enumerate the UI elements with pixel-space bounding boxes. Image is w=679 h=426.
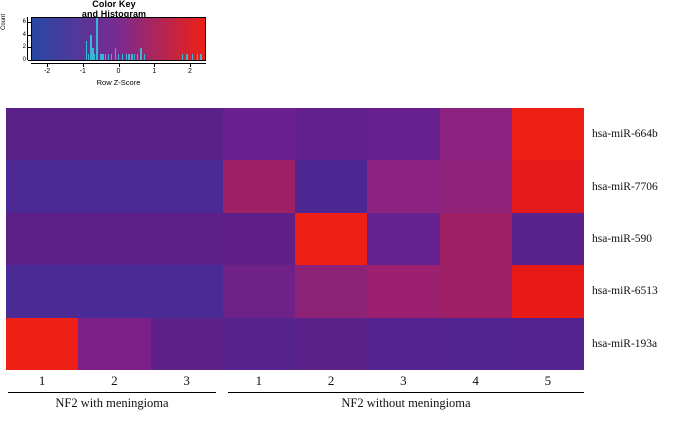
heatmap-cell xyxy=(367,265,439,317)
color-key-x-tick xyxy=(190,64,191,67)
histogram-bar xyxy=(102,54,103,60)
heatmap-cell xyxy=(512,108,584,160)
heatmap-column-label: 4 xyxy=(440,372,512,390)
heatmap-row-label: hsa-miR-193a xyxy=(592,318,679,370)
histogram-bar xyxy=(134,54,135,60)
histogram-bar xyxy=(105,54,106,60)
heatmap-cell xyxy=(6,265,78,317)
heatmap-cell xyxy=(295,265,367,317)
color-key-y-tick-label: 4 xyxy=(23,32,26,38)
histogram-bar xyxy=(108,54,109,60)
color-key-y-tick xyxy=(28,47,31,48)
color-key-plot xyxy=(31,17,206,61)
heatmap-row-label: hsa-miR-590 xyxy=(592,213,679,265)
heatmap-cell xyxy=(151,108,223,160)
heatmap-cell xyxy=(295,160,367,212)
heatmap-cell xyxy=(6,160,78,212)
histogram-bar xyxy=(197,54,198,60)
heatmap-cell xyxy=(512,160,584,212)
heatmap-cell xyxy=(367,108,439,160)
color-key-y-tick-label: 6 xyxy=(23,19,26,25)
histogram-bar xyxy=(144,54,145,60)
heatmap-cell xyxy=(78,108,150,160)
color-key-y-axis: 0246 xyxy=(27,17,31,60)
color-key-x-tick-label: 1 xyxy=(152,68,156,75)
histogram-bar xyxy=(200,54,201,60)
color-key-x-axis-label: Row Z-Score xyxy=(31,78,206,87)
histogram-bar xyxy=(94,54,95,60)
heatmap-cell xyxy=(367,213,439,265)
histogram-bar xyxy=(96,18,97,60)
heatmap-column-label: 3 xyxy=(151,372,223,390)
heatmap-cell xyxy=(6,318,78,370)
heatmap-row-labels: hsa-miR-664bhsa-miR-7706hsa-miR-590hsa-m… xyxy=(592,108,679,370)
heatmap-grid xyxy=(6,108,584,370)
histogram-bar xyxy=(192,54,193,60)
histogram-bar xyxy=(115,48,116,60)
heatmap-column-label: 5 xyxy=(512,372,584,390)
color-key-y-tick-label: 2 xyxy=(23,44,26,50)
color-key-y-axis-label: Count xyxy=(1,14,7,30)
heatmap-column-label: 1 xyxy=(223,372,295,390)
heatmap-cell xyxy=(223,265,295,317)
color-key-x-tick-label: -1 xyxy=(80,68,86,75)
color-key-x-tick-label: -2 xyxy=(44,68,50,75)
histogram-bar xyxy=(137,54,138,60)
heatmap-cell xyxy=(223,213,295,265)
heatmap-column-label: 1 xyxy=(6,372,78,390)
heatmap-cell xyxy=(223,108,295,160)
heatmap-cell xyxy=(78,265,150,317)
color-key-x-tick-label: 2 xyxy=(188,68,192,75)
heatmap-column-labels: 12312345 xyxy=(6,372,584,390)
histogram-bar xyxy=(131,54,132,60)
group-rule-with-meningioma xyxy=(8,392,216,393)
heatmap-column-label: 3 xyxy=(367,372,439,390)
heatmap-column-label: 2 xyxy=(295,372,367,390)
histogram-bars xyxy=(32,18,205,60)
heatmap xyxy=(6,108,584,370)
histogram-bar xyxy=(111,54,112,60)
heatmap-cell xyxy=(151,213,223,265)
heatmap-cell xyxy=(367,160,439,212)
heatmap-cell xyxy=(223,318,295,370)
heatmap-cell xyxy=(223,160,295,212)
heatmap-cell xyxy=(367,318,439,370)
color-key-y-tick xyxy=(28,60,31,61)
color-key-panel: Color Key and Histogram 0246 Count -2-10… xyxy=(0,0,230,100)
heatmap-cell xyxy=(151,318,223,370)
group-label-with-meningioma: NF2 with meningioma xyxy=(8,396,216,411)
histogram-bar xyxy=(122,54,123,60)
heatmap-cell xyxy=(78,213,150,265)
histogram-bar xyxy=(126,54,127,60)
heatmap-cell xyxy=(151,160,223,212)
heatmap-cell xyxy=(78,318,150,370)
heatmap-cell xyxy=(440,160,512,212)
color-key-x-tick xyxy=(47,64,48,67)
group-label-without-meningioma: NF2 without meningioma xyxy=(228,396,584,411)
histogram-bar xyxy=(118,54,119,60)
heatmap-row-label: hsa-miR-664b xyxy=(592,108,679,160)
heatmap-cell xyxy=(78,160,150,212)
histogram-bar xyxy=(182,54,183,60)
heatmap-cell xyxy=(295,213,367,265)
heatmap-column-label: 2 xyxy=(78,372,150,390)
heatmap-row-label: hsa-miR-7706 xyxy=(592,160,679,212)
heatmap-cell xyxy=(512,213,584,265)
color-key-y-tick xyxy=(28,22,31,23)
color-key-x-tick xyxy=(154,64,155,67)
color-key-x-tick-label: 0 xyxy=(117,68,121,75)
heatmap-row-label: hsa-miR-6513 xyxy=(592,265,679,317)
histogram-bar xyxy=(186,54,187,60)
heatmap-cell xyxy=(512,265,584,317)
color-key-x-tick xyxy=(83,64,84,67)
heatmap-cell xyxy=(440,265,512,317)
histogram-bar xyxy=(88,54,89,60)
heatmap-cell xyxy=(295,108,367,160)
heatmap-cell xyxy=(6,213,78,265)
heatmap-cell xyxy=(295,318,367,370)
histogram-bar xyxy=(128,54,129,60)
color-key-y-tick-label: 0 xyxy=(23,57,26,63)
histogram-bar xyxy=(140,48,141,60)
color-key-x-tick xyxy=(119,64,120,67)
heatmap-cell xyxy=(440,213,512,265)
color-key-y-tick xyxy=(28,35,31,36)
group-rule-without-meningioma xyxy=(228,392,584,393)
heatmap-cell xyxy=(151,265,223,317)
color-key-x-axis: -2-1012 xyxy=(31,63,206,67)
heatmap-cell xyxy=(6,108,78,160)
heatmap-cell xyxy=(440,318,512,370)
heatmap-cell xyxy=(440,108,512,160)
color-key-title-line1: Color Key xyxy=(34,0,194,9)
heatmap-cell xyxy=(512,318,584,370)
